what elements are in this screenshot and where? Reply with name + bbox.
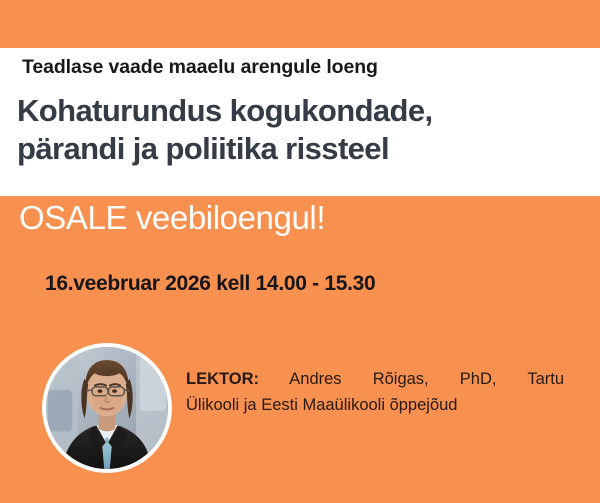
lecturer-info: LEKTOR: Andres Rõigas, PhD, Tartu Ülikoo…: [186, 366, 564, 418]
headline-line-1: Kohaturundus kogukondade,: [17, 93, 433, 128]
poster-canvas: Teadlase vaade maaelu arengule loeng Koh…: [0, 0, 600, 503]
lecturer-photo: [46, 347, 168, 469]
lecturer-affiliation: Ülikooli ja Eesti Maaülikooli õppejõud: [186, 392, 564, 418]
lecturer-label: LEKTOR:: [186, 370, 259, 388]
eyebrow-text: Teadlase vaade maaelu arengule loeng: [22, 56, 378, 79]
page-title: Kohaturundus kogukondade, pärandi ja pol…: [17, 92, 583, 168]
lecturer-name: Andres Rõigas, PhD, Tartu: [259, 370, 564, 388]
portrait-illustration: [46, 347, 168, 469]
headline-line-2: pärandi ja poliitika rissteel: [17, 130, 583, 168]
avatar: [42, 343, 172, 473]
call-to-action-text: OSALE veebiloengul!: [19, 199, 325, 237]
event-datetime: 16.veebruar 2026 kell 14.00 - 15.30: [45, 272, 375, 296]
lecturer-name-line: LEKTOR: Andres Rõigas, PhD, Tartu: [186, 366, 564, 392]
